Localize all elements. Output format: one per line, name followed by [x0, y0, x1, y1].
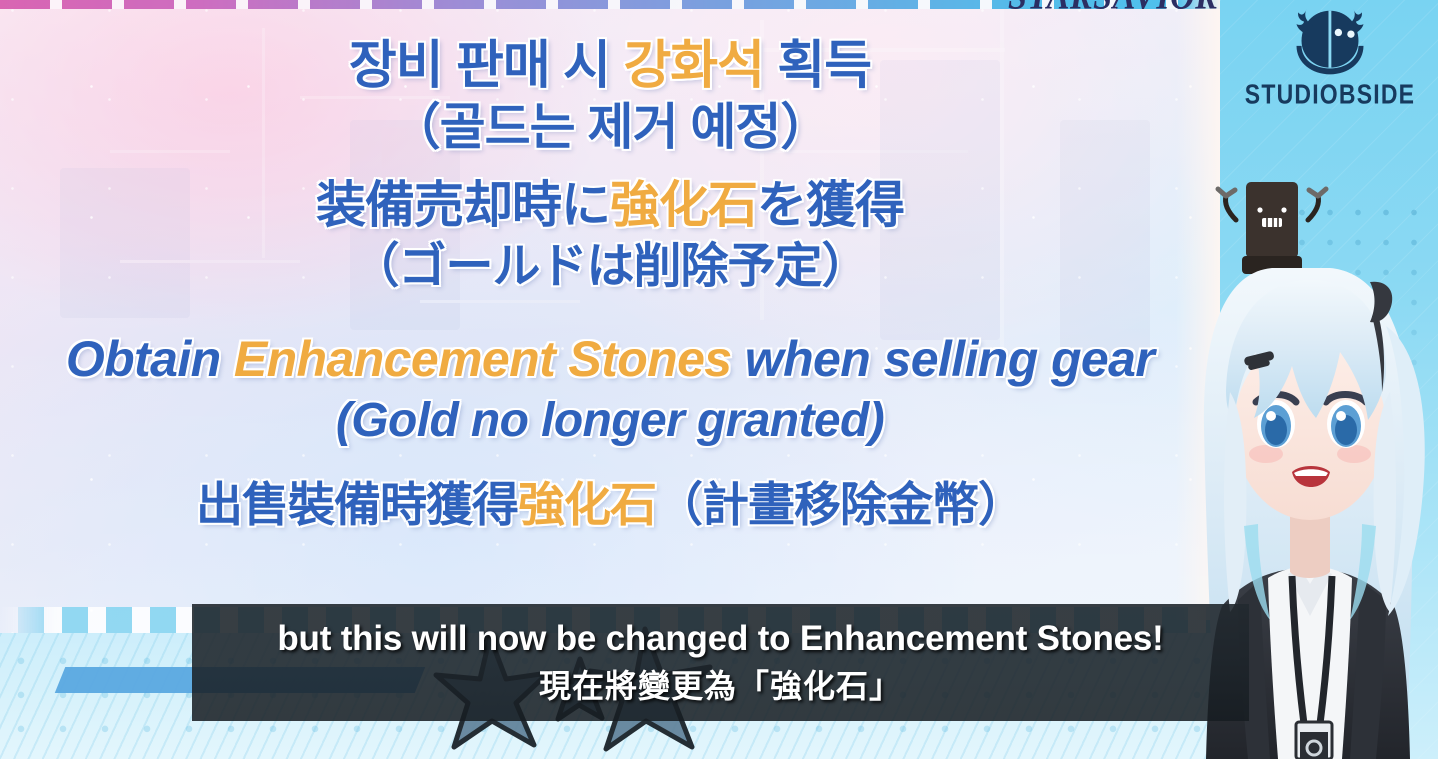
headline-korean-line1: 장비 판매 시 강화석 획득 [0, 40, 1220, 92]
en-line1-highlight: Enhancement Stones [234, 331, 732, 387]
headline-english-line1: Obtain Enhancement Stones when selling g… [0, 334, 1220, 384]
studio-logo: STUDIOBSIDE [1240, 4, 1420, 105]
subtitle-chinese: 現在將變更為「強化石」 [539, 661, 902, 707]
headline-english-line2: (Gold no longer granted) [0, 397, 1220, 445]
ja-line1-post: を獲得 [757, 177, 904, 233]
zh-line1-highlight: 強化石 [518, 478, 656, 531]
obsidian-shield-creature-icon [1288, 4, 1372, 76]
ko-line1-highlight: 강화석 [623, 37, 764, 95]
ja-line1-highlight: 強化石 [610, 177, 757, 233]
headline-korean-line2: （골드는 제거 예정） [0, 102, 1220, 152]
subtitle-overlay: but this will now be changed to Enhancem… [192, 604, 1249, 721]
en-line1-post: when selling gear [732, 331, 1155, 387]
zh-line1-post: （計畫移除金幣） [656, 478, 1024, 531]
headline-japanese-line2: （ゴールドは削除予定） [0, 243, 1220, 291]
ko-line1-pre: 장비 판매 시 [349, 37, 624, 95]
zh-line1-pre: 出售裝備時獲得 [196, 478, 518, 531]
headline-japanese-line1: 装備売却時に強化石を獲得 [0, 180, 1220, 230]
presentation-slide: STARSAVIOR STUDIOBSIDE 장비 판매 시 강화석 획득 （골… [0, 0, 1438, 759]
dark-block-mascot [1218, 182, 1326, 274]
announcement-headlines: 장비 판매 시 강화석 획득 （골드는 제거 예정） 装備売却時に強化石を獲得 … [0, 0, 1220, 580]
en-line1-pre: Obtain [66, 331, 234, 387]
studio-name-label: STUDIOBSIDE [1240, 78, 1420, 111]
headline-chinese-line1: 出售裝備時獲得強化石（計畫移除金幣） [0, 481, 1220, 528]
ko-line1-post: 획득 [764, 37, 871, 95]
subtitle-english: but this will now be changed to Enhancem… [277, 619, 1163, 659]
ja-line1-pre: 装備売却時に [316, 177, 610, 233]
